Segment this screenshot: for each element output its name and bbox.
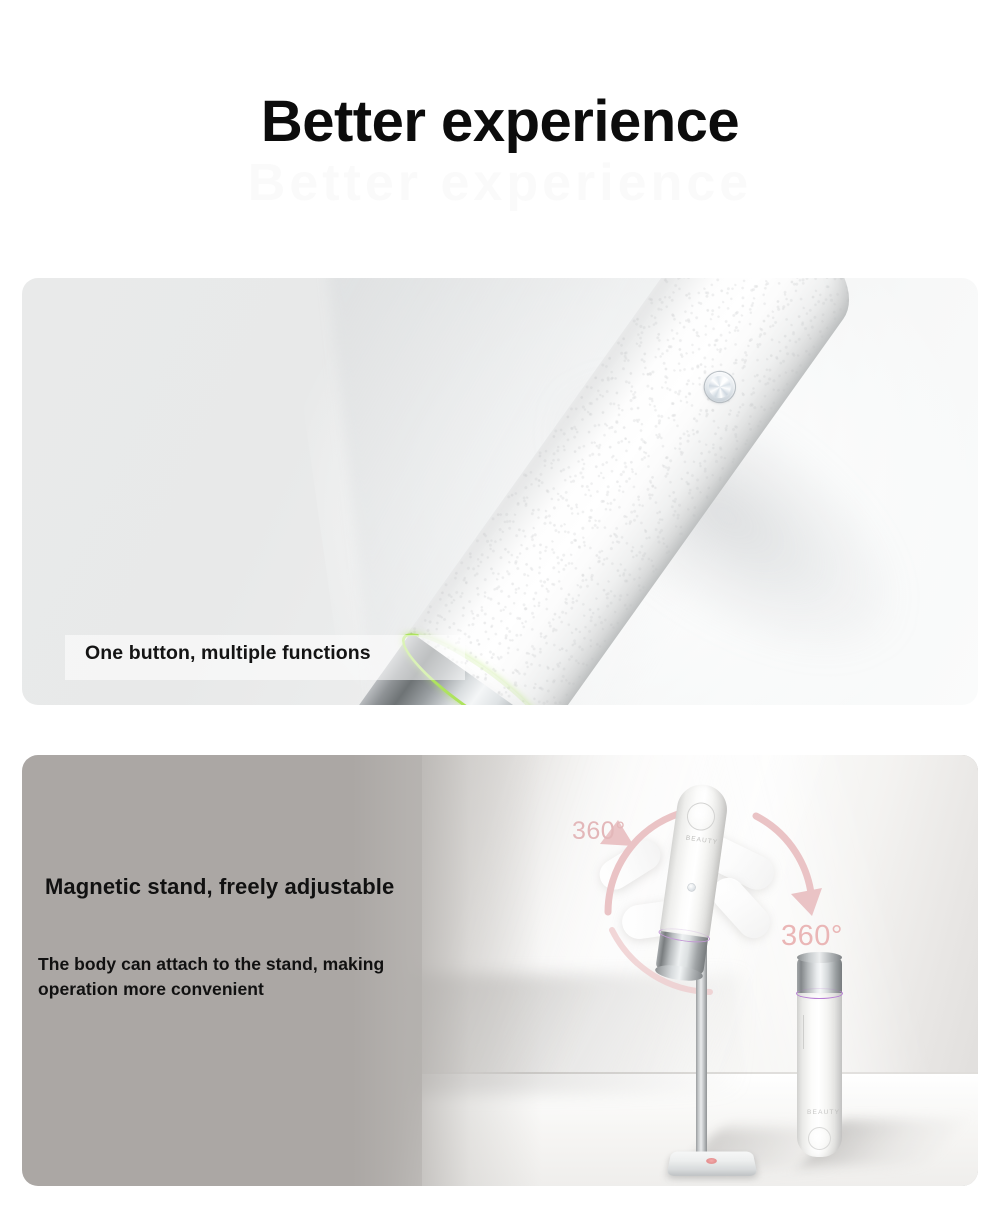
ghost-title-watermark: Better experience xyxy=(0,155,1000,212)
standing-wand-chrome-top xyxy=(797,952,842,963)
product-feature-page: Better experience Better experience One … xyxy=(0,0,1000,1208)
standing-purple-accent-ring xyxy=(796,988,843,999)
standing-wand-brand-mark: BEAUTY xyxy=(807,1109,840,1116)
page-header: Better experience Better experience xyxy=(0,0,1000,278)
card-one-heading: One button, multiple functions xyxy=(85,642,371,665)
page-title: Better experience xyxy=(0,90,1000,154)
standing-wand-dial-icon xyxy=(808,1127,831,1150)
rotation-label-left: 360° xyxy=(572,817,626,846)
rotation-label-right: 360° xyxy=(781,920,843,953)
feature-card-one-button: One button, multiple functions Long pres… xyxy=(22,278,978,705)
standing-wand-seam xyxy=(803,1015,804,1049)
standing-wand-device: BEAUTY xyxy=(797,957,842,1157)
stand-base-indicator-icon xyxy=(706,1158,717,1164)
card-two-subtitle: The body can attach to the stand, making… xyxy=(38,952,468,1002)
card-two-heading: Magnetic stand, freely adjustable xyxy=(45,874,394,900)
